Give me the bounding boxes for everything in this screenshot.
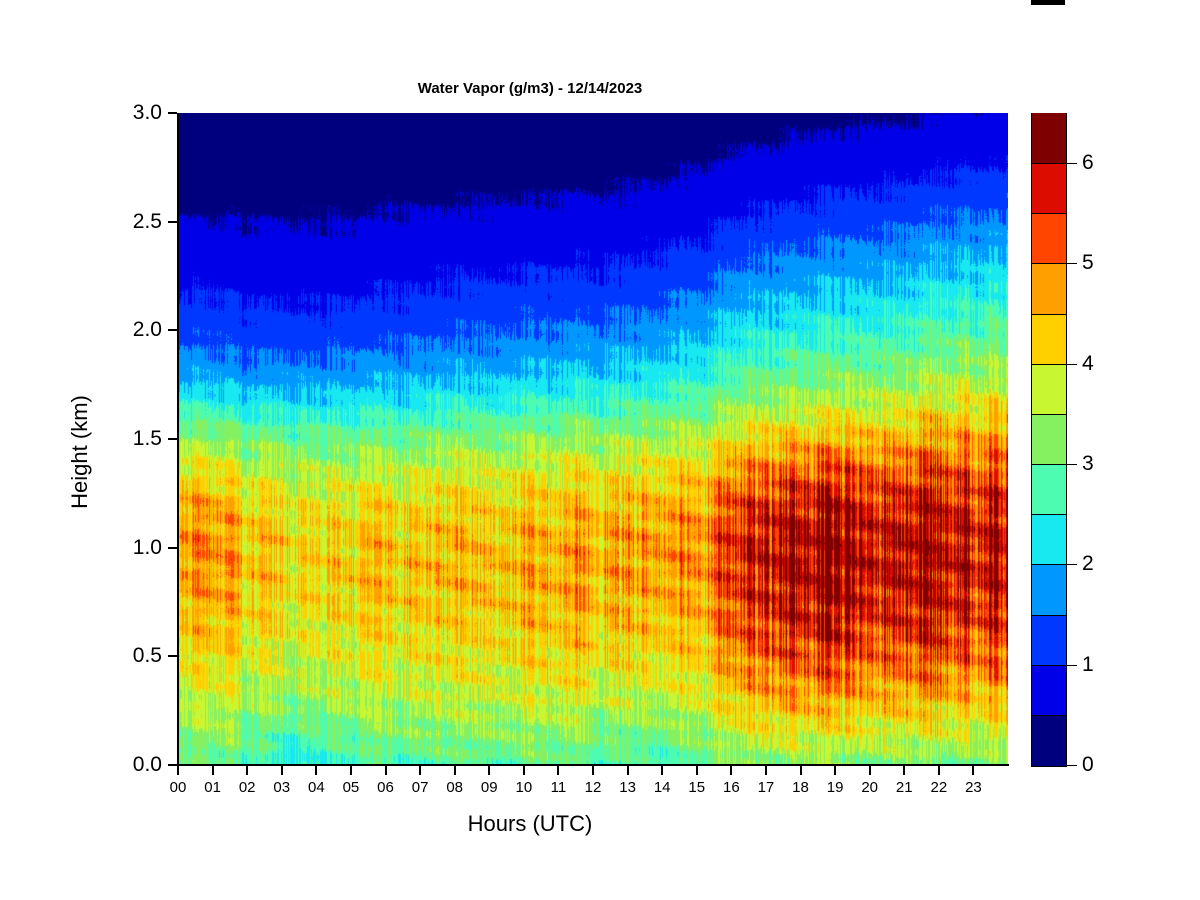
y-axis-tick-label: 2.0 [133, 318, 162, 342]
colorbar-tick [1066, 263, 1077, 264]
x-axis-tick-label: 21 [896, 779, 913, 796]
x-axis-tick-label: 02 [239, 779, 256, 796]
x-axis-tick-label: 20 [861, 779, 878, 796]
colorbar-tick-label: 0 [1082, 753, 1094, 777]
x-axis-tick-label: 19 [827, 779, 844, 796]
x-axis-tick-label: 15 [688, 779, 705, 796]
x-axis-tick [385, 766, 387, 775]
y-axis-tick [168, 112, 177, 114]
colorbar-band [1032, 113, 1066, 164]
x-axis-tick [765, 766, 767, 775]
colorbar-band [1032, 615, 1066, 666]
x-axis-tick-label: 06 [377, 779, 394, 796]
colorbar-band [1032, 515, 1066, 566]
y-axis-tick [168, 655, 177, 657]
x-axis-tick-label: 23 [965, 779, 982, 796]
colorbar-band [1032, 414, 1066, 465]
y-axis-tick-label: 3.0 [133, 101, 162, 125]
x-axis-tick-label: 16 [723, 779, 740, 796]
colorbar-tick [1066, 163, 1077, 164]
colorbar-band [1032, 665, 1066, 716]
x-axis-tick [696, 766, 698, 775]
x-axis-tick-label: 12 [585, 779, 602, 796]
colorbar-band-separator [1032, 715, 1066, 716]
y-axis-title: Height (km) [67, 352, 93, 552]
colorbar-tick-label: 6 [1082, 151, 1094, 175]
x-axis-tick [281, 766, 283, 775]
colorbar-band-separator [1032, 364, 1066, 365]
y-axis-tick-label: 0.0 [133, 753, 162, 777]
x-axis-tick-label: 10 [515, 779, 532, 796]
colorbar-top-artifact [1031, 0, 1065, 5]
x-axis-tick-label: 07 [412, 779, 429, 796]
x-axis-tick [419, 766, 421, 775]
x-axis-tick [938, 766, 940, 775]
x-axis-tick-label: 18 [792, 779, 809, 796]
x-axis-tick-label: 01 [204, 779, 221, 796]
x-axis-tick [869, 766, 871, 775]
colorbar-band-separator [1032, 163, 1066, 164]
colorbar-band [1032, 214, 1066, 265]
colorbar-tick [1066, 364, 1077, 365]
colorbar-band-separator [1032, 564, 1066, 565]
y-axis-tick-label: 2.5 [133, 210, 162, 234]
x-axis-tick-label: 13 [619, 779, 636, 796]
y-axis-tick [168, 221, 177, 223]
x-axis-tick-label: 22 [930, 779, 947, 796]
x-axis-tick-label: 09 [481, 779, 498, 796]
y-axis-tick-label: 0.5 [133, 644, 162, 668]
x-axis-tick [972, 766, 974, 775]
heatmap-plot-area [178, 113, 1008, 765]
y-axis-tick [168, 329, 177, 331]
x-axis-title: Hours (UTC) [0, 811, 1060, 837]
x-axis-tick [350, 766, 352, 775]
colorbar-band-separator [1032, 263, 1066, 264]
y-axis-tick [168, 547, 177, 549]
colorbar-band-separator [1032, 414, 1066, 415]
y-axis-tick-label: 1.0 [133, 536, 162, 560]
colorbar-band-separator [1032, 514, 1066, 515]
x-axis-tick-label: 03 [273, 779, 290, 796]
colorbar-tick [1066, 464, 1077, 465]
x-axis-tick-label: 11 [551, 779, 567, 796]
x-axis-tick [661, 766, 663, 775]
x-axis-tick [800, 766, 802, 775]
colorbar-tick-label: 1 [1082, 653, 1094, 677]
colorbar-tick-label: 4 [1082, 352, 1094, 376]
colorbar [1031, 113, 1067, 767]
x-axis-tick [557, 766, 559, 775]
colorbar-tick-label: 2 [1082, 552, 1094, 576]
colorbar-band-separator [1032, 464, 1066, 465]
colorbar-tick-label: 5 [1082, 251, 1094, 275]
x-axis-tick [592, 766, 594, 775]
colorbar-band [1032, 715, 1066, 766]
colorbar-band-separator [1032, 615, 1066, 616]
colorbar-band-separator [1032, 665, 1066, 666]
x-axis-tick [730, 766, 732, 775]
x-axis-tick [488, 766, 490, 775]
x-axis-tick-label: 05 [343, 779, 360, 796]
figure-canvas: Water Vapor (g/m3) - 12/14/2023 0.00.51.… [0, 0, 1200, 900]
colorbar-band [1032, 364, 1066, 415]
colorbar-band [1032, 464, 1066, 515]
x-axis-tick [177, 766, 179, 775]
x-axis-tick-label: 17 [758, 779, 775, 796]
y-axis-tick [168, 438, 177, 440]
colorbar-tick [1066, 564, 1077, 565]
colorbar-band [1032, 164, 1066, 215]
colorbar-band [1032, 565, 1066, 616]
colorbar-tick-label: 3 [1082, 452, 1094, 476]
x-axis-tick [523, 766, 525, 775]
y-axis-tick [168, 764, 177, 766]
y-axis-tick-label: 1.5 [133, 427, 162, 451]
colorbar-band-separator [1032, 213, 1066, 214]
x-axis-tick-label: 08 [446, 779, 463, 796]
x-axis-tick [834, 766, 836, 775]
y-axis-line [177, 113, 179, 766]
x-axis-tick [454, 766, 456, 775]
colorbar-tick [1066, 765, 1077, 766]
colorbar-band [1032, 314, 1066, 365]
colorbar-tick [1066, 665, 1077, 666]
x-axis-tick [903, 766, 905, 775]
x-axis-tick [246, 766, 248, 775]
page-title: Water Vapor (g/m3) - 12/14/2023 [0, 80, 1060, 97]
x-axis-tick-label: 14 [654, 779, 671, 796]
x-axis-tick [627, 766, 629, 775]
colorbar-band-separator [1032, 314, 1066, 315]
x-axis-tick [315, 766, 317, 775]
x-axis-tick-label: 04 [308, 779, 325, 796]
x-axis-tick [212, 766, 214, 775]
x-axis-tick-label: 00 [170, 779, 187, 796]
colorbar-band [1032, 264, 1066, 315]
